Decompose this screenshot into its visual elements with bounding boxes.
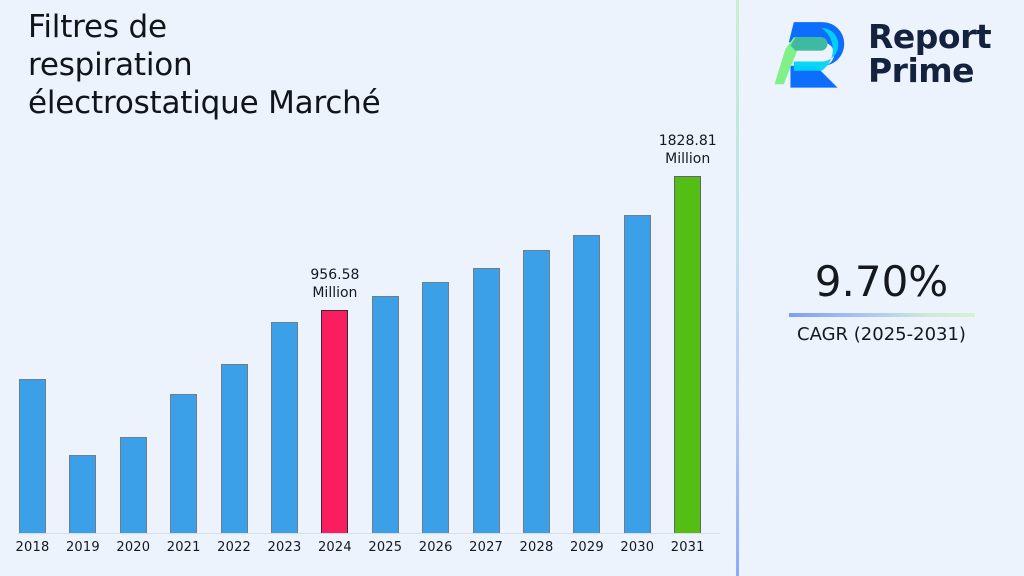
bar-2021[interactable] [170,394,197,533]
cagr-block: 9.70% CAGR (2025-2031) [739,258,1024,347]
bar-2031[interactable] [674,176,701,533]
bar-2029[interactable] [573,235,600,533]
bar-2025[interactable] [372,296,399,533]
chart-panel: Filtres de respiration électrostatique M… [0,0,737,576]
cagr-divider [789,313,975,317]
brand-name: Report Prime [868,20,991,88]
brand-name-line2: Prime [868,51,974,90]
bar-2026[interactable] [422,282,449,533]
bar-2018[interactable] [19,379,46,533]
x-axis-tick-2031: 2031 [658,540,718,555]
chart-axis-line [18,533,720,534]
bar-2019[interactable] [69,455,96,533]
bar-2027[interactable] [473,268,500,533]
bar-value-label-2031: 1828.81 Million [628,132,748,168]
bar-chart: 201820192020202120222023956.58 Million20… [0,0,737,576]
cagr-label: CAGR (2025-2031) [739,323,1024,347]
bar-2020[interactable] [120,437,147,533]
bar-2023[interactable] [271,322,298,533]
bar-2030[interactable] [624,215,651,533]
chart-page: Filtres de respiration électrostatique M… [0,0,1024,576]
bar-2024[interactable] [321,310,348,533]
report-prime-r-logo-icon [772,12,856,96]
bar-2028[interactable] [523,250,550,533]
cagr-value: 9.70% [739,258,1024,306]
brand-panel: Report Prime 9.70% CAGR (2025-2031) [739,0,1024,576]
bar-2022[interactable] [221,364,248,533]
report-prime-logo: Report Prime [772,12,991,96]
